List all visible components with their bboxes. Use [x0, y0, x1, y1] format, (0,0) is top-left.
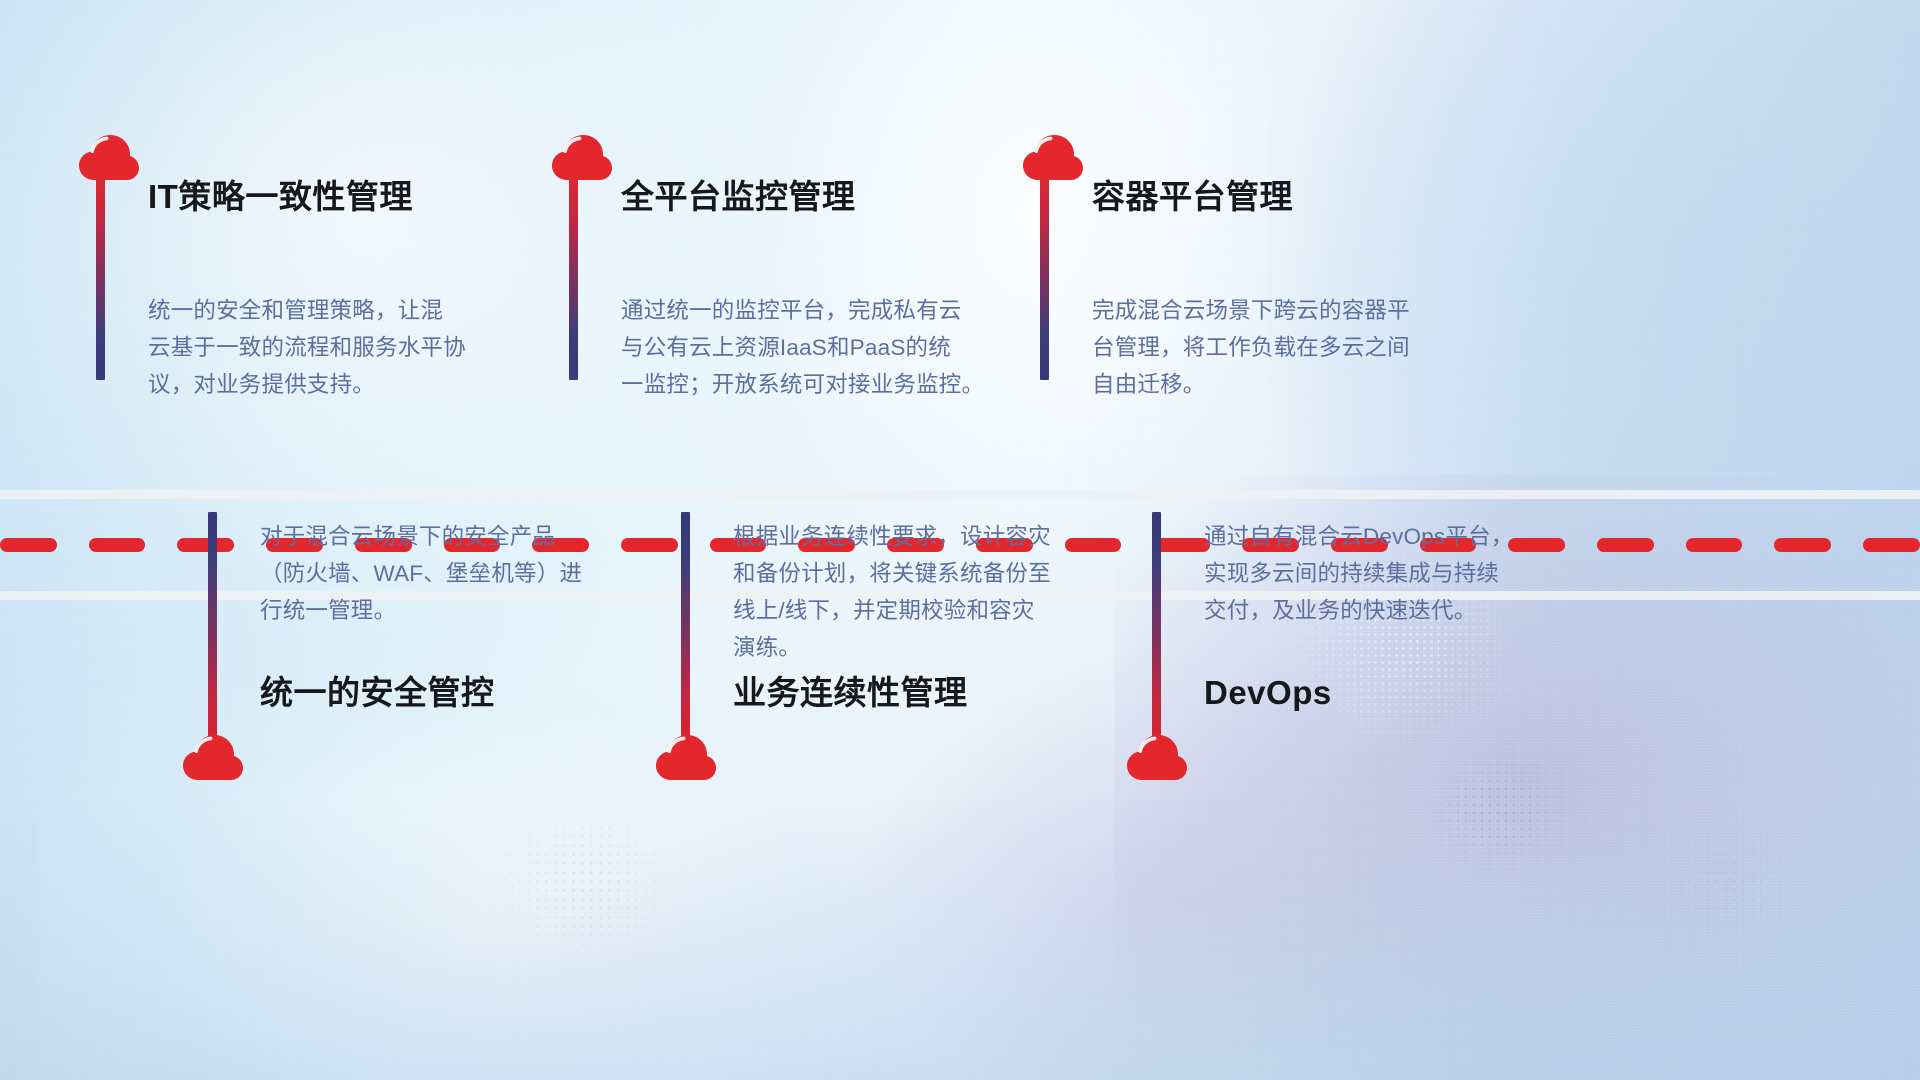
- connector-stem: [1152, 512, 1161, 744]
- item-heading: IT策略一致性管理: [148, 180, 413, 213]
- connector-stem: [569, 172, 578, 380]
- item-heading: DevOps: [1204, 676, 1332, 709]
- cloud-icon: [1126, 733, 1188, 781]
- divider-dash: [1686, 538, 1743, 552]
- divider-dash: [1597, 538, 1654, 552]
- item-heading: 全平台监控管理: [621, 180, 856, 213]
- cloud-icon: [655, 733, 717, 781]
- item-body: 根据业务连续性要求，设计容灾 和备份计划，将关键系统备份至 线上/线下，并定期校…: [733, 518, 1093, 666]
- item-heading: 容器平台管理: [1092, 180, 1293, 213]
- item-body: 通过自有混合云DevOps平台， 实现多云间的持续集成与持续 交付，及业务的快速…: [1204, 518, 1574, 629]
- cloud-icon: [182, 733, 244, 781]
- divider-band-upper: [0, 490, 1920, 499]
- cloud-icon: [551, 133, 613, 181]
- cloud-icon: [1022, 133, 1084, 181]
- divider-dash: [89, 538, 146, 552]
- divider-dash: [1153, 538, 1210, 552]
- cloud-icon: [78, 133, 140, 181]
- divider-dash: [0, 538, 57, 552]
- item-heading: 统一的安全管控: [260, 676, 495, 709]
- connector-stem: [208, 512, 217, 744]
- connector-stem: [681, 512, 690, 744]
- item-body: 通过统一的监控平台，完成私有云 与公有云上资源IaaS和PaaS的统 一监控；开…: [621, 292, 991, 403]
- divider-dash: [1863, 538, 1920, 552]
- item-body: 完成混合云场景下跨云的容器平 台管理，将工作负载在多云之间 自由迁移。: [1092, 292, 1462, 403]
- divider-dash: [177, 538, 234, 552]
- item-heading: 业务连续性管理: [733, 676, 968, 709]
- item-body: 对于混合云场景下的安全产品 （防火墙、WAF、堡垒机等）进 行统一管理。: [260, 518, 620, 629]
- connector-stem: [96, 172, 105, 380]
- connector-stem: [1040, 172, 1049, 380]
- divider-dash: [1774, 538, 1831, 552]
- divider-dash: [621, 538, 678, 552]
- item-body: 统一的安全和管理策略，让混 云基于一致的流程和服务水平协 议，对业务提供支持。: [148, 292, 508, 403]
